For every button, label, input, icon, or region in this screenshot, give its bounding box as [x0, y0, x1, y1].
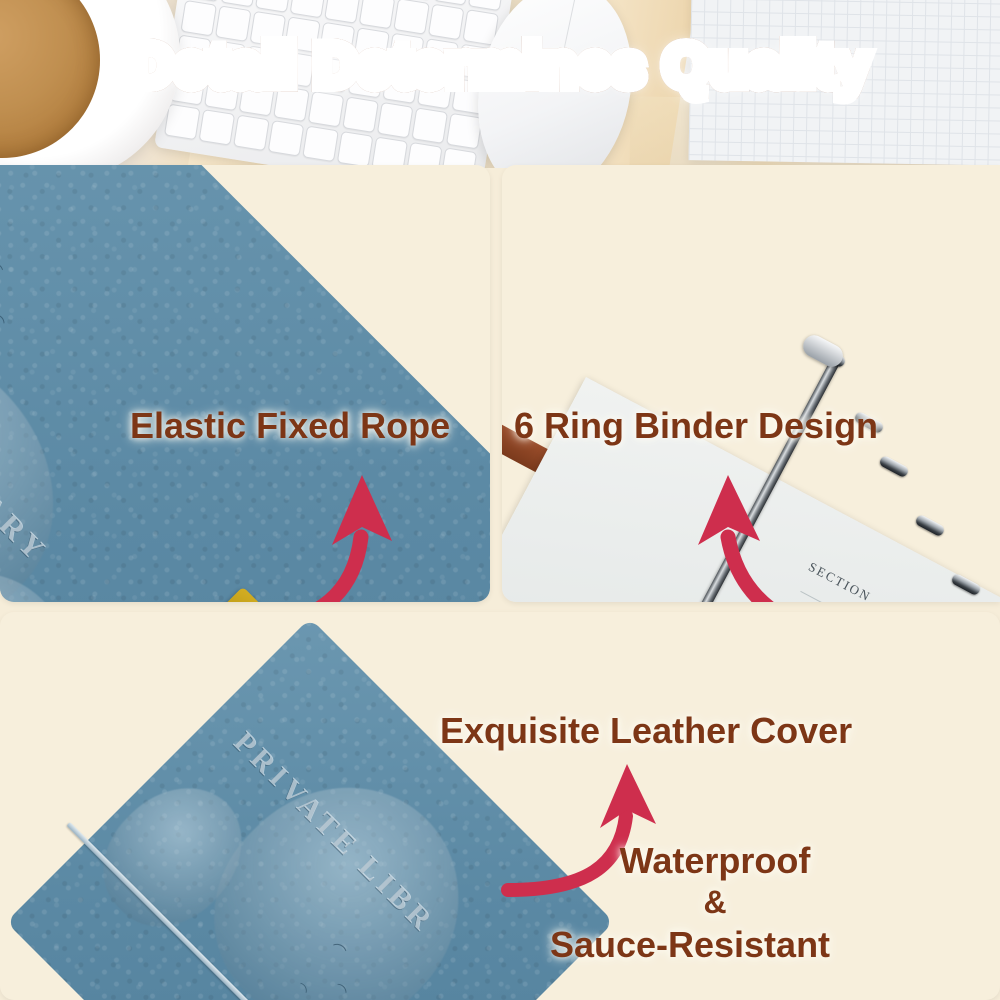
keyboard-key [290, 0, 327, 18]
keyboard-key [393, 0, 430, 35]
panel-leather-cover: ︵ ︵ ︵ ︵ ︵ PRIVATE LIBR Exquisite Leather… [0, 612, 1000, 1000]
panel-label-elastic: Elastic Fixed Rope [130, 405, 450, 447]
panel-label-leather-cover: Exquisite Leather Cover [440, 710, 852, 752]
panel-elastic-rope: ︵ ︵ ︵ ︵ E LIBRARY Elastic Fixed Rope [0, 165, 490, 602]
keyboard-key [199, 109, 236, 146]
panel-label-ring-binder: 6 Ring Binder Design [514, 405, 878, 447]
cover-emboss: ︵ ︵ ︵ ︵ E LIBRARY [0, 165, 490, 602]
keyboard-key [180, 0, 217, 36]
bird-emboss: ︵ [0, 306, 13, 324]
sub-label-ampersand: & [0, 884, 1000, 921]
keyboard-key [164, 104, 201, 141]
page-title-text: Detail Determines Quality [130, 32, 869, 99]
keyboard-key [337, 131, 374, 168]
keyboard-key [377, 102, 414, 139]
keyboard-key [371, 136, 408, 168]
page-title: Detail Determines Quality [0, 36, 1000, 96]
keyboard-key [342, 96, 379, 133]
keyboard-key [446, 113, 483, 150]
binder-ring [914, 514, 946, 538]
binder-ring [878, 455, 910, 479]
keyboard-key [268, 120, 305, 157]
page-label-section: SECTION [806, 559, 874, 602]
sub-label-sauce-resistant: Sauce-Resistant [0, 924, 1000, 966]
notebook-cover: ︵ ︵ ︵ ︵ E LIBRARY [0, 165, 490, 602]
bird-emboss: ︵ [0, 254, 9, 272]
keyboard-key [411, 107, 448, 144]
keyboard-key [359, 0, 396, 29]
infographic-root: Detail Determines Quality ︵ ︵ ︵ ︵ E LIBR… [0, 0, 1000, 1000]
keyboard-key [324, 0, 361, 24]
keyboard-key [302, 125, 339, 162]
keyboard-key [233, 115, 270, 152]
sub-label-waterproof: Waterproof [0, 840, 1000, 882]
panel-ring-binder: SECTION CO MY BOOKSHELF 6 Ring Binder De… [502, 165, 1000, 602]
